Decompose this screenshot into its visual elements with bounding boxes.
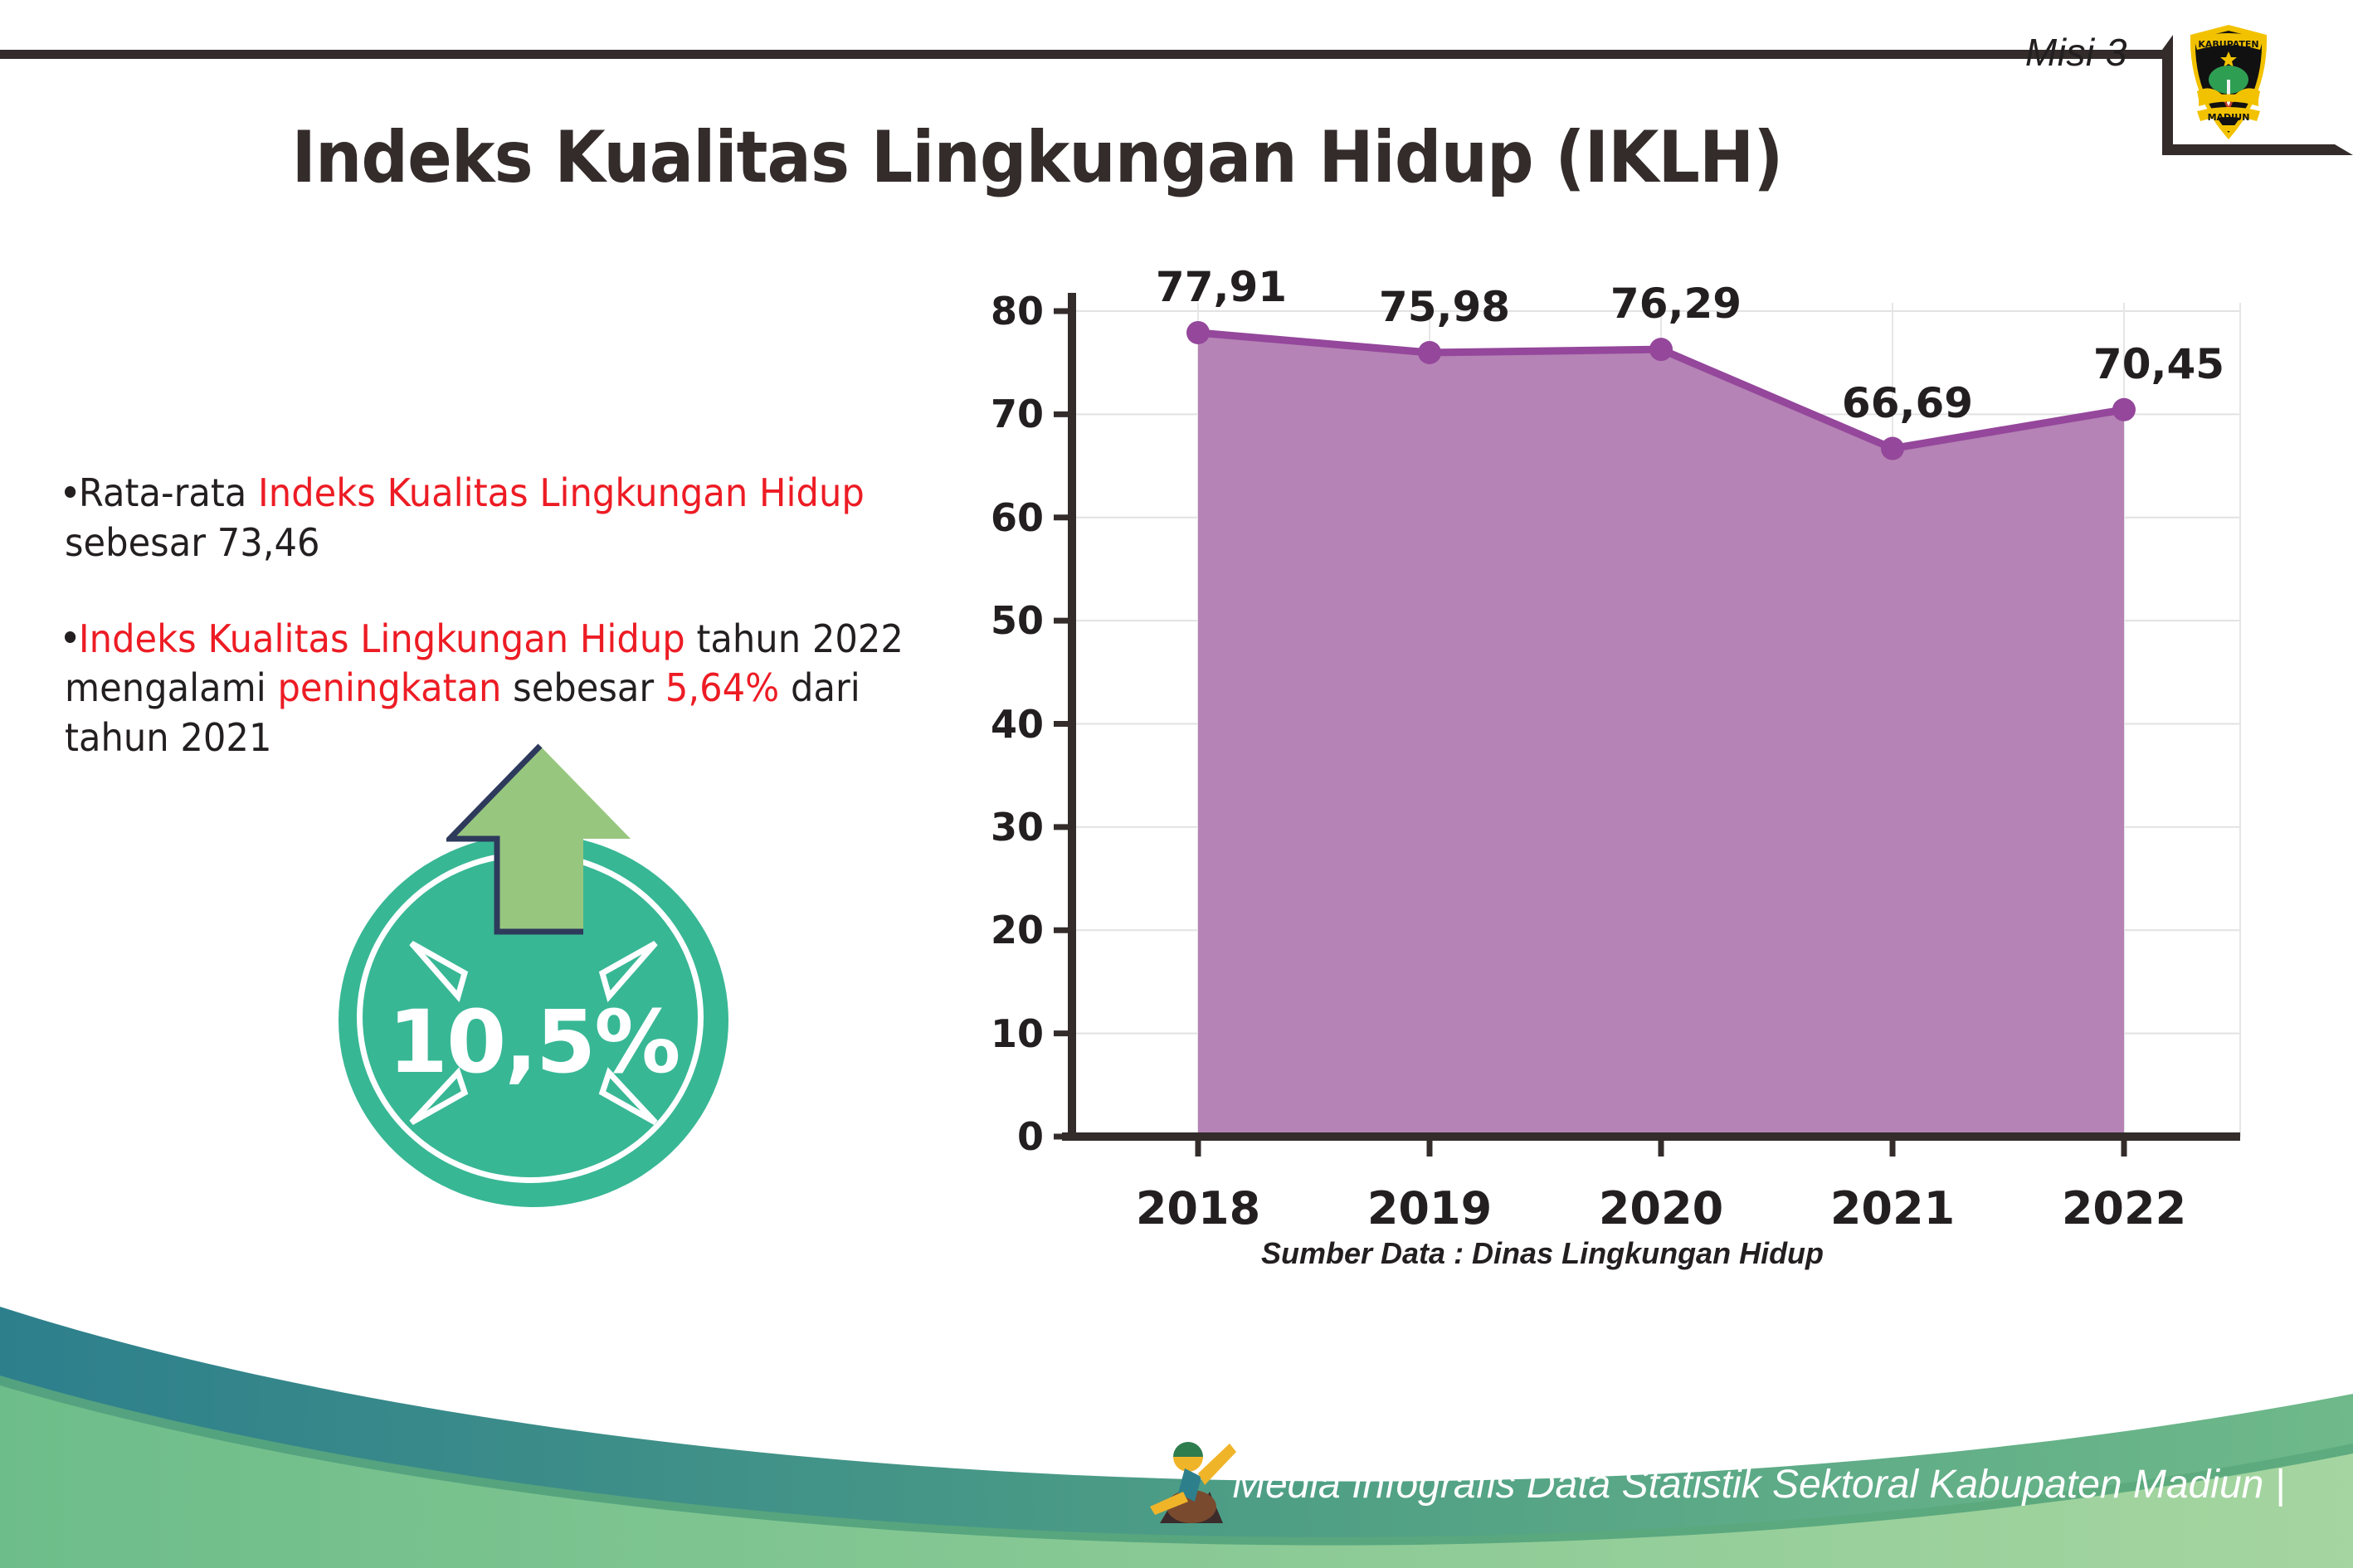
header-bracket-horizontal — [2162, 144, 2353, 155]
svg-text:KABUPATEN: KABUPATEN — [2198, 39, 2258, 50]
bullet2-highlight1: Indeks Kualitas Lingkungan Hidup — [79, 616, 685, 661]
header-bracket-vertical — [2162, 35, 2173, 155]
bullet-item-1: Rata-rata Indeks Kualitas Lingkungan Hid… — [65, 469, 915, 568]
x-tick-label: 2022 — [2062, 1182, 2186, 1234]
bullet2-part2: sebesar — [501, 665, 665, 710]
source-note: Sumber Data : Dinas Lingkungan Hidup — [1261, 1236, 1824, 1271]
data-label: 76,29 — [1610, 280, 1742, 328]
dancer-logo-icon — [1137, 1425, 1245, 1546]
y-tick-label: 40 — [964, 702, 1044, 747]
page-title: Indeks Kualitas Lingkungan Hidup (IKLH) — [83, 116, 1991, 199]
y-tick-label: 0 — [964, 1114, 1044, 1159]
data-label: 70,45 — [2093, 340, 2224, 388]
y-tick-label: 10 — [964, 1011, 1044, 1056]
data-label: 66,69 — [1842, 379, 1973, 427]
bullet-item-2: Indeks Kualitas Lingkungan Hidup tahun 2… — [65, 615, 915, 763]
chart-canvas — [979, 290, 2273, 1220]
iklh-area-chart: 01020304050607080 20182019202020212022 7… — [979, 290, 2273, 1220]
y-tick-label: 30 — [964, 805, 1044, 850]
y-tick-label: 50 — [964, 598, 1044, 643]
bullet1-part1: Rata-rata — [79, 470, 258, 515]
badge-value: 10,5% — [322, 991, 745, 1093]
kabupaten-madiun-crest-icon: KABUPATEN MADIUN — [2185, 20, 2272, 144]
increase-badge: 10,5% — [322, 743, 753, 1207]
y-tick-label: 60 — [964, 495, 1044, 540]
bullet1-highlight: Indeks Kualitas Lingkungan Hidup — [258, 470, 865, 515]
bullet1-part2: sebesar 73,46 — [65, 520, 320, 565]
bullet2-highlight2: peningkatan — [277, 665, 501, 710]
header-rule — [0, 50, 2167, 59]
bullet-dot-icon — [65, 631, 76, 643]
x-tick-label: 2019 — [1367, 1182, 1492, 1234]
svg-text:MADIUN: MADIUN — [2208, 112, 2250, 123]
bullet-dot-icon — [65, 486, 76, 498]
data-label: 77,91 — [1156, 263, 1287, 311]
y-tick-label: 20 — [964, 908, 1044, 952]
footer-text: Media Infografis Data Statistik Sektoral… — [1232, 1462, 2285, 1507]
y-tick-label: 70 — [964, 392, 1044, 436]
x-tick-label: 2018 — [1136, 1182, 1260, 1234]
bullet2-highlight3: 5,64% — [665, 665, 779, 710]
mission-label: Misi 3 — [2025, 30, 2127, 75]
data-label: 75,98 — [1379, 283, 1510, 331]
y-tick-label: 80 — [964, 289, 1044, 334]
x-tick-label: 2020 — [1599, 1182, 1723, 1234]
x-tick-label: 2021 — [1830, 1182, 1955, 1234]
